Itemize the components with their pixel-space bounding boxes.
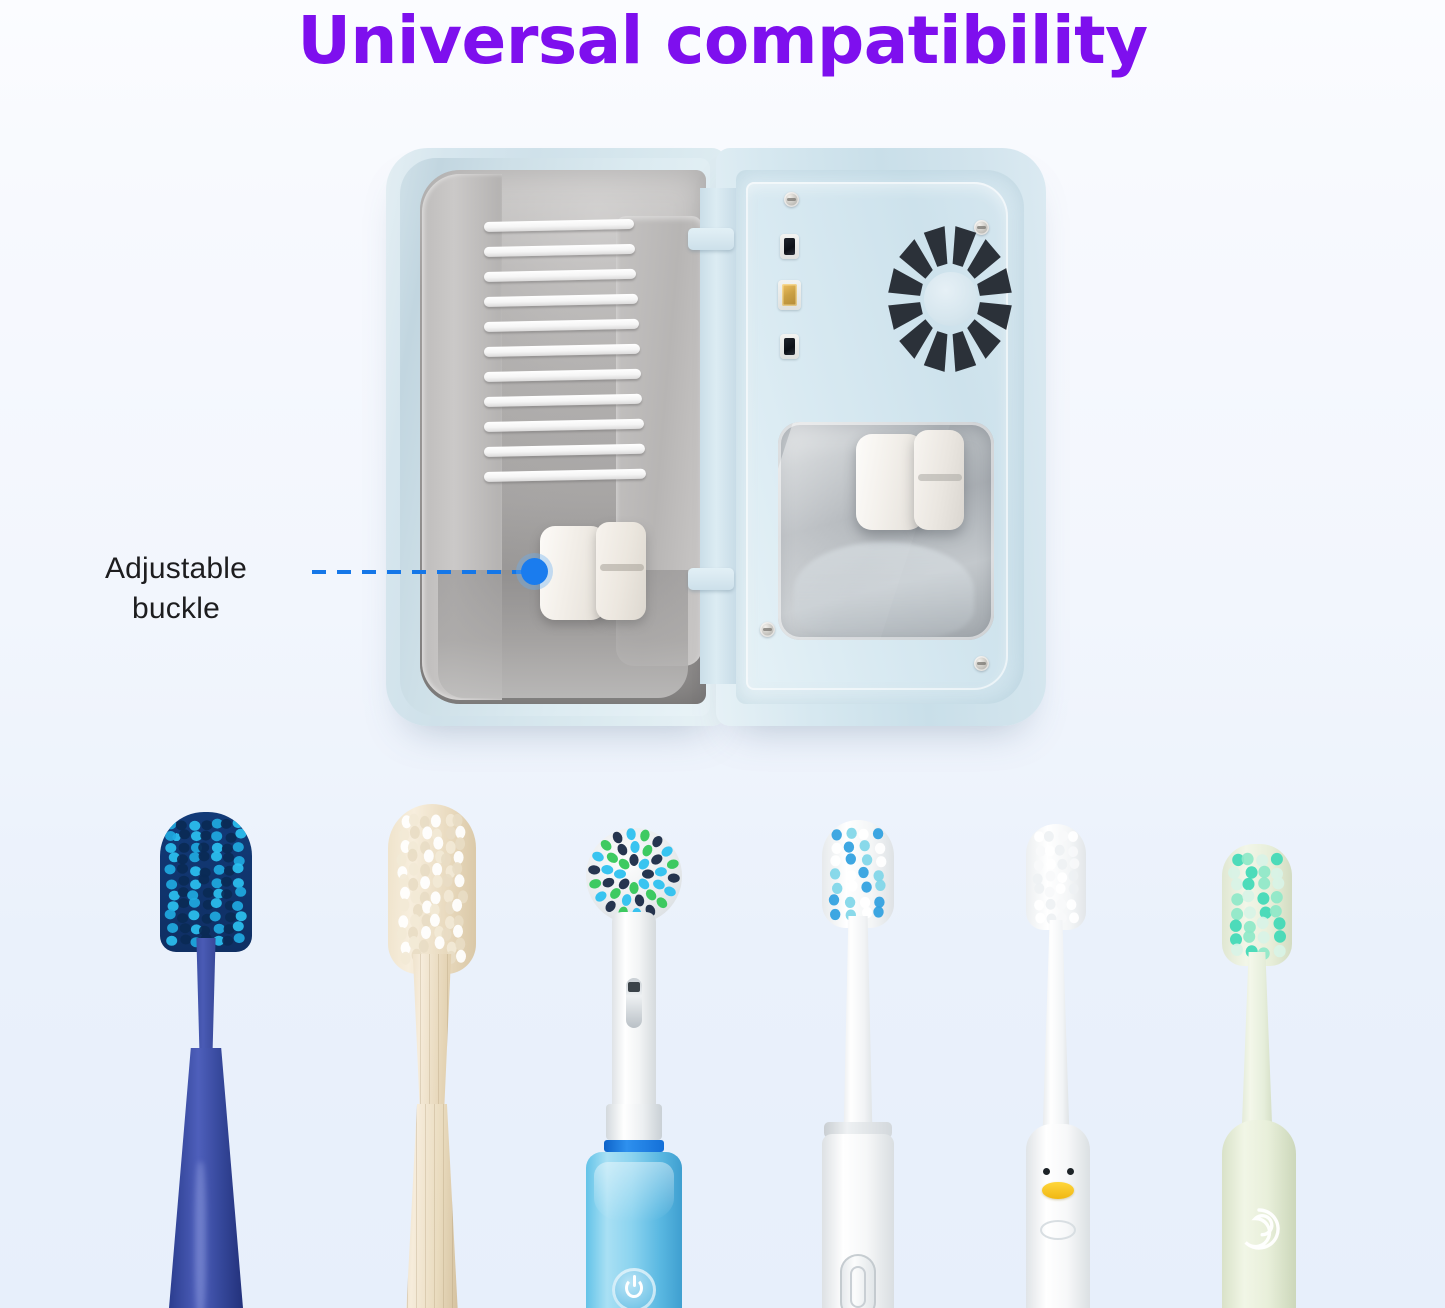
bristle-tuft <box>190 866 201 876</box>
bristle-tuft <box>847 880 857 891</box>
bristles-green <box>1222 844 1292 966</box>
brush-neck <box>186 938 226 1058</box>
brush-handle <box>586 1152 682 1308</box>
vent-slat <box>484 444 645 457</box>
bristle-tuft <box>234 933 245 943</box>
bristle-tuft <box>1272 877 1284 889</box>
power-button-icon[interactable] <box>612 1268 656 1308</box>
bristle-tuft <box>873 906 883 917</box>
bristle-tuft <box>212 843 223 853</box>
brush-neck <box>402 954 462 1114</box>
bristles-cream <box>388 804 476 974</box>
bristle-tuft <box>1256 854 1268 866</box>
screw-bottom-left <box>760 622 775 637</box>
bristle-tuft <box>453 814 463 827</box>
bristle-tuft <box>456 950 466 963</box>
fan-blade <box>953 331 977 372</box>
bristle-tuft <box>860 840 870 851</box>
uv-led-bottom-icon <box>780 334 799 359</box>
vent-slat <box>484 419 644 432</box>
bristle-tuft <box>177 864 188 874</box>
bristle-tuft <box>236 911 247 921</box>
bristle-tuft <box>1035 913 1045 924</box>
bristle-tuft <box>1271 853 1283 865</box>
bristle-tuft <box>189 898 200 908</box>
bristle-tuft <box>165 864 176 874</box>
fan-hub <box>924 272 978 326</box>
bristle-tuft <box>1046 871 1056 882</box>
bristle-tuft <box>443 874 453 887</box>
reflective-inner-panel <box>778 422 994 640</box>
bristle-tuft <box>200 831 211 841</box>
bristle-tuft <box>1257 892 1269 904</box>
bristle-tuft <box>452 899 462 912</box>
bristle-tuft <box>188 910 199 920</box>
bristle-tuft <box>422 826 432 839</box>
fan-blade <box>888 302 923 330</box>
bristle-tuft <box>179 843 190 853</box>
electronics-panel <box>736 170 1024 704</box>
bristle-tuft <box>1257 917 1269 929</box>
bristle-tuft <box>875 880 885 891</box>
bristle-tuft <box>419 940 429 953</box>
duck-eye-left-icon <box>1043 1168 1050 1175</box>
adjustable-buckle-right[interactable] <box>856 430 964 532</box>
swirl-emblem-icon <box>1234 1204 1284 1254</box>
bristle-tuft <box>203 888 214 898</box>
fan-blade <box>977 302 1012 330</box>
bristle-tuft <box>832 883 842 894</box>
bristle-tuft <box>1068 831 1078 842</box>
brush-neck <box>1040 920 1072 1134</box>
bristle-tuft <box>599 838 614 853</box>
bristle-tuft <box>1034 900 1044 911</box>
bristle-tuft <box>165 819 176 829</box>
bristle-tuft <box>860 897 870 908</box>
fan-blade <box>899 239 933 279</box>
bristle-tuft <box>235 829 246 839</box>
bristle-tuft <box>1034 883 1044 894</box>
bristle-tuft <box>408 849 418 862</box>
bristle-tuft <box>603 899 617 914</box>
uv-toothbrush-sanitizer-case <box>386 148 1046 726</box>
bristle-tuft <box>444 890 454 903</box>
bristle-tuft <box>617 857 632 872</box>
brush-indicator-window <box>626 978 642 1028</box>
bristle-tuft <box>177 854 188 864</box>
bristle-tuft <box>165 843 176 853</box>
bristle-tuft <box>221 819 232 829</box>
ventilation-slats <box>484 222 646 492</box>
bristle-tuft <box>832 843 842 854</box>
bristle-tuft <box>1258 877 1270 889</box>
brush-head <box>388 804 476 974</box>
buckle-notch <box>600 564 644 571</box>
bristle-tuft <box>667 873 680 883</box>
bristle-tuft <box>431 891 441 904</box>
bristle-tuft <box>166 936 177 946</box>
duck-beak-icon <box>1042 1182 1074 1199</box>
bristle-tuft <box>223 853 234 863</box>
bristle-tuft <box>180 935 191 945</box>
bristle-tuft <box>233 842 244 852</box>
bristle-tuft <box>1057 872 1067 883</box>
bristle-tuft <box>211 898 222 908</box>
bristle-tuft <box>432 863 442 876</box>
brush-manual-blue-toothbrush <box>160 812 256 1308</box>
uv-led-top-icon <box>780 234 799 259</box>
bristle-tuft <box>233 818 244 828</box>
vent-slat <box>484 394 643 407</box>
brush-neck <box>838 916 878 1132</box>
bristle-tuft <box>199 851 210 861</box>
bristle-tuft <box>875 843 885 854</box>
bristle-tuft <box>1066 899 1076 910</box>
bristle-tuft <box>650 834 664 849</box>
bristle-tuft <box>654 895 669 910</box>
bristle-tuft <box>629 854 638 866</box>
buckle-block-side <box>596 522 646 620</box>
bristle-tuft <box>189 852 200 862</box>
bristle-tuft <box>167 923 178 933</box>
screw-top-left <box>784 192 799 207</box>
bristle-tuft <box>858 867 868 878</box>
bristle-tuft <box>1036 846 1046 857</box>
bristle-tuft <box>1046 859 1056 870</box>
bristle-tuft <box>1046 899 1056 910</box>
bristles-teal <box>822 820 894 928</box>
buckle-notch <box>918 474 962 481</box>
bristle-tuft <box>1034 831 1044 842</box>
fan-blade <box>899 319 933 359</box>
power-glyph <box>625 1278 643 1298</box>
bristle-tuft <box>177 913 188 923</box>
bristle-tuft <box>222 844 233 854</box>
brush-blue-ring <box>604 1140 664 1152</box>
brush-handle <box>1026 1124 1090 1308</box>
bristle-tuft <box>858 829 868 840</box>
bristle-tuft <box>611 830 624 845</box>
bristle-tuft <box>235 887 246 897</box>
bamboo-grain <box>402 954 462 1114</box>
brush-head <box>1222 844 1292 966</box>
brush-handle <box>1222 1120 1296 1308</box>
bristle-tuft <box>430 914 440 927</box>
bristle-tuft <box>591 850 606 863</box>
vent-slat <box>484 369 641 382</box>
bristle-tuft <box>830 855 840 866</box>
bristle-tuft <box>663 885 678 898</box>
bristle-tuft <box>588 878 602 890</box>
brush-round-head <box>586 828 682 924</box>
bristle-tuft <box>233 878 244 888</box>
bristle-tuft <box>399 829 409 842</box>
bristle-tuft <box>214 924 225 934</box>
bristle-tuft <box>654 867 667 878</box>
bristle-tuft <box>210 912 221 922</box>
brush-handle <box>168 1048 244 1308</box>
bristle-tuft <box>830 868 840 879</box>
bristle-tuft <box>211 831 222 841</box>
bristle-tuft <box>165 831 176 841</box>
bristle-tuft <box>410 914 420 927</box>
fan-blade <box>967 319 1001 359</box>
bristle-tuft <box>1231 893 1243 905</box>
bristle-tuft <box>455 837 465 850</box>
bristle-tuft <box>201 820 212 830</box>
brush-tray <box>420 170 706 704</box>
bristle-tuft <box>626 828 636 841</box>
bristle-tuft <box>846 828 856 839</box>
bristle-tuft <box>616 842 630 857</box>
callout-line-1: Adjustable <box>105 552 247 585</box>
bristle-tuft <box>1055 845 1065 856</box>
bristle-tuft <box>634 894 645 908</box>
bristle-tuft <box>1258 931 1270 943</box>
bristle-tuft <box>399 874 409 887</box>
bristle-tuft <box>844 842 854 853</box>
brush-kids-duck-electric-toothbrush <box>1026 824 1090 1308</box>
vent-slat <box>484 294 638 307</box>
bristle-tuft <box>862 854 872 865</box>
brush-kids-green-swirl-toothbrush <box>1222 844 1296 1308</box>
bristle-tuft <box>233 863 244 873</box>
page-title: Universal compatibility <box>0 4 1445 78</box>
bristle-tuft <box>1242 853 1254 865</box>
bristle-tuft <box>178 898 189 908</box>
brush-collar <box>606 1104 662 1140</box>
bamboo-grain <box>398 1104 466 1308</box>
bristle-tuft <box>639 829 651 843</box>
center-hinge <box>700 188 736 684</box>
bristle-tuft <box>614 869 626 878</box>
bristle-tuft <box>433 837 443 850</box>
hinge-tab-bottom <box>688 568 734 590</box>
fan-blade <box>967 239 1001 279</box>
bristle-tuft <box>453 925 463 938</box>
bristle-tuft <box>401 952 411 965</box>
bristle-tuft <box>1231 944 1243 956</box>
bristle-tuft <box>636 876 651 891</box>
bristle-tuft <box>198 875 209 885</box>
case-left-half <box>386 148 726 726</box>
brush-head <box>1026 824 1086 930</box>
fan-blade <box>953 226 977 267</box>
bristle-tuft <box>666 858 680 870</box>
bristle-tuft <box>398 915 408 928</box>
bristle-tuft <box>1230 920 1242 932</box>
callout-target-dot <box>521 558 548 585</box>
bristle-tuft <box>454 851 464 864</box>
bristle-tuft <box>232 901 243 911</box>
bristle-tuft <box>846 853 856 864</box>
vent-slat <box>484 344 640 357</box>
bristle-tuft <box>1258 866 1270 878</box>
bristle-tuft <box>421 926 431 939</box>
bristle-tuft <box>1244 906 1256 918</box>
bristle-tuft <box>214 865 225 875</box>
bristle-tuft <box>1045 846 1055 857</box>
power-button-icon[interactable] <box>840 1254 876 1308</box>
bristle-tuft <box>221 889 232 899</box>
bristle-tuft <box>629 882 638 894</box>
bristle-tuft <box>621 893 633 907</box>
bristle-tuft <box>1058 831 1068 842</box>
bristle-tuft <box>452 862 462 875</box>
bristle-tuft <box>400 887 410 900</box>
bristle-tuft <box>441 853 451 866</box>
vent-slat <box>484 244 635 257</box>
bristle-tuft <box>397 853 407 866</box>
bristle-tuft <box>642 869 654 878</box>
bristle-tuft <box>179 829 190 839</box>
bristle-tuft <box>876 856 886 867</box>
bristle-tuft <box>397 927 407 940</box>
bristle-tuft <box>1243 930 1255 942</box>
bristle-tuft <box>408 878 418 891</box>
bristles-white <box>1026 824 1086 930</box>
bristle-tuft <box>180 923 191 933</box>
bristle-tuft <box>446 827 456 840</box>
bristle-tuft <box>630 841 639 853</box>
fan-blade <box>888 268 923 296</box>
bristles-round <box>586 828 682 924</box>
bristle-tuft <box>1069 912 1079 923</box>
bristle-tuft <box>874 897 884 908</box>
bristle-tuft <box>178 876 189 886</box>
bristle-tuft <box>165 909 176 919</box>
brush-head <box>160 812 252 952</box>
adjustable-buckle-left[interactable] <box>540 522 646 622</box>
brush-head <box>822 820 894 928</box>
bristle-tuft <box>588 865 601 875</box>
bristle-tuft <box>176 820 187 830</box>
bristle-tuft <box>399 899 409 912</box>
product-infographic: Universal compatibility <box>0 0 1445 1308</box>
bristle-tuft <box>1228 867 1240 879</box>
bristle-tuft <box>420 876 430 889</box>
bristle-tuft <box>178 887 189 897</box>
bristle-tuft <box>830 909 840 920</box>
bristle-tuft <box>221 877 232 887</box>
bristle-tuft <box>433 875 443 888</box>
bristle-tuft <box>1231 908 1243 920</box>
bristle-tuft <box>1057 859 1067 870</box>
bristle-tuft <box>409 814 419 827</box>
bristle-tuft <box>211 852 222 862</box>
bristle-tuft <box>1056 883 1066 894</box>
bristle-tuft <box>845 897 855 908</box>
bristle-tuft <box>445 916 455 929</box>
bristle-tuft <box>1069 883 1079 894</box>
callout-adjustable-buckle: Adjustable buckle <box>60 549 292 629</box>
bristle-tuft <box>874 870 884 881</box>
bristle-tuft <box>1271 891 1283 903</box>
uv-led-center-icon <box>778 280 801 310</box>
bristle-tuft <box>1246 866 1258 878</box>
bristle-tuft <box>455 826 465 839</box>
bristle-tuft <box>198 843 209 853</box>
bristle-tuft <box>222 936 233 946</box>
bristle-tuft <box>861 882 871 893</box>
hinge-tab-top <box>688 228 734 250</box>
bristle-tuft <box>832 829 842 840</box>
bristle-tuft <box>409 863 419 876</box>
fan-blade <box>924 331 948 372</box>
bristle-tuft <box>212 878 223 888</box>
bristle-tuft <box>1045 887 1055 898</box>
screw-bottom-right <box>974 656 989 671</box>
bristle-tuft <box>226 833 237 843</box>
callout-line-2: buckle <box>132 592 220 625</box>
bristle-tuft <box>446 841 456 854</box>
bristle-tuft <box>431 815 441 828</box>
brush-handle <box>822 1134 894 1308</box>
vent-slat <box>484 219 634 232</box>
bristle-tuft <box>1274 945 1286 957</box>
bristle-tuft <box>601 876 615 889</box>
bristle-tuft <box>1243 878 1255 890</box>
bristle-tuft <box>424 850 434 863</box>
bristle-tuft <box>455 874 465 887</box>
bristle-tuft <box>1068 870 1078 881</box>
bristle-tuft <box>1274 917 1286 929</box>
bristle-tuft <box>636 857 651 872</box>
case-right-half <box>716 148 1046 726</box>
bristle-tuft <box>410 826 420 839</box>
bristle-tuft <box>1034 860 1044 871</box>
bristle-tuft <box>409 936 419 949</box>
bristle-tuft <box>1057 899 1067 910</box>
bristle-tuft <box>189 821 200 831</box>
bristle-tuft <box>435 936 445 949</box>
bristle-tuft <box>641 843 655 858</box>
fan-vent-icon <box>886 224 1014 374</box>
bristle-tuft <box>652 878 667 891</box>
bristle-tuft <box>420 864 430 877</box>
bristle-tuft <box>455 938 465 951</box>
vent-slat <box>484 469 646 482</box>
bristle-tuft <box>873 828 883 839</box>
fan-blade <box>924 226 948 267</box>
brush-oral-b-rotating-electric-toothbrush <box>586 828 682 1308</box>
bristle-tuft <box>233 921 244 931</box>
bristle-tuft <box>1069 858 1079 869</box>
duck-eye-right-icon <box>1067 1168 1074 1175</box>
bristle-tuft <box>829 894 839 905</box>
bristles-blue <box>160 812 252 952</box>
bristle-tuft <box>1231 878 1243 890</box>
duck-wing-icon <box>1040 1220 1076 1240</box>
fan-blade <box>977 268 1012 296</box>
callout-leader-line <box>312 570 534 574</box>
bristle-tuft <box>846 870 856 881</box>
vent-slat <box>484 269 637 282</box>
bristle-tuft <box>644 887 659 902</box>
bristle-tuft <box>1068 846 1078 857</box>
bristle-tuft <box>410 890 420 903</box>
vent-slat <box>484 319 639 332</box>
bristle-tuft <box>605 851 620 865</box>
bristle-tuft <box>1270 905 1282 917</box>
bristle-tuft <box>593 889 608 903</box>
brush-sonic-white-electric-toothbrush <box>822 820 894 1308</box>
bristle-tuft <box>1242 890 1254 902</box>
bristle-tuft <box>166 880 177 890</box>
bristle-tuft <box>1044 831 1054 842</box>
bristle-tuft <box>1274 930 1286 942</box>
brush-neck <box>1238 952 1276 1128</box>
